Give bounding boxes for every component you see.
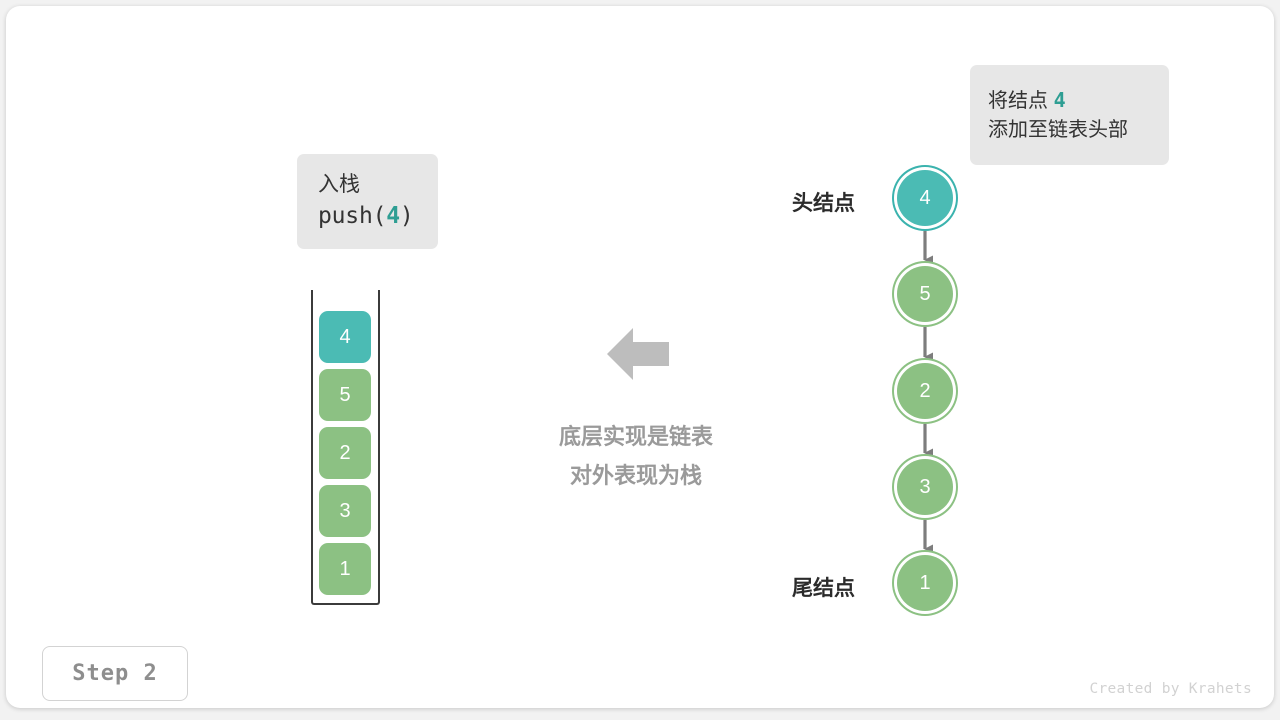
tail-node-label: 尾结点 [792,572,855,602]
diagram-canvas: 入栈 push(4) 将结点 4 添加至链表头部 45231 底层实现是链表 对… [0,0,1280,720]
linked-list-node: 2 [897,363,953,419]
head-node-label: 头结点 [792,187,855,217]
linked-list-node: 3 [897,459,953,515]
credit-text: Created by Krahets [1089,681,1252,697]
linked-list-node: 5 [897,266,953,322]
linked-list-diagram: 45231 头结点 尾结点 [6,6,1280,726]
step-badge: Step 2 [42,646,188,701]
linked-list-node: 4 [897,170,953,226]
linked-list-node: 1 [897,555,953,611]
diagram-card: 入栈 push(4) 将结点 4 添加至链表头部 45231 底层实现是链表 对… [6,6,1274,708]
linked-list-connectors [6,6,1280,726]
